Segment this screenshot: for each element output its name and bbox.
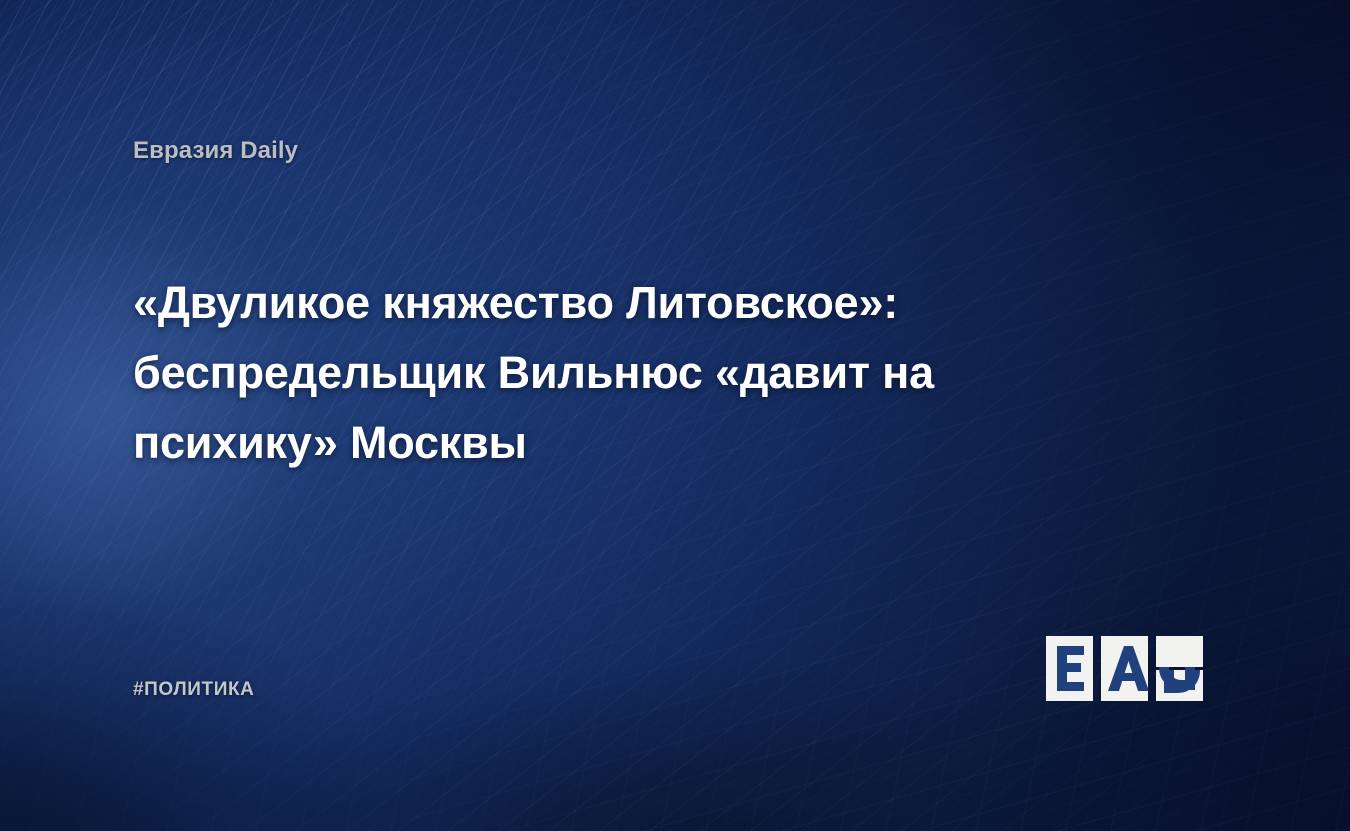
headline: «Двуликое княжество Литовское»: беспреде…	[133, 268, 1033, 478]
eadaily-logo[interactable]	[1046, 636, 1220, 701]
logo-tile-d-upper	[1156, 636, 1203, 667]
brand-wordmark[interactable]: Евразия Daily	[133, 137, 298, 165]
news-card: Евразия Daily «Двуликое княжество Литовс…	[0, 0, 1350, 831]
card-content: Евразия Daily «Двуликое княжество Литовс…	[0, 0, 1350, 831]
logo-letter-e-icon	[1057, 646, 1084, 691]
category-tag[interactable]: #ПОЛИТИКА	[133, 679, 255, 701]
